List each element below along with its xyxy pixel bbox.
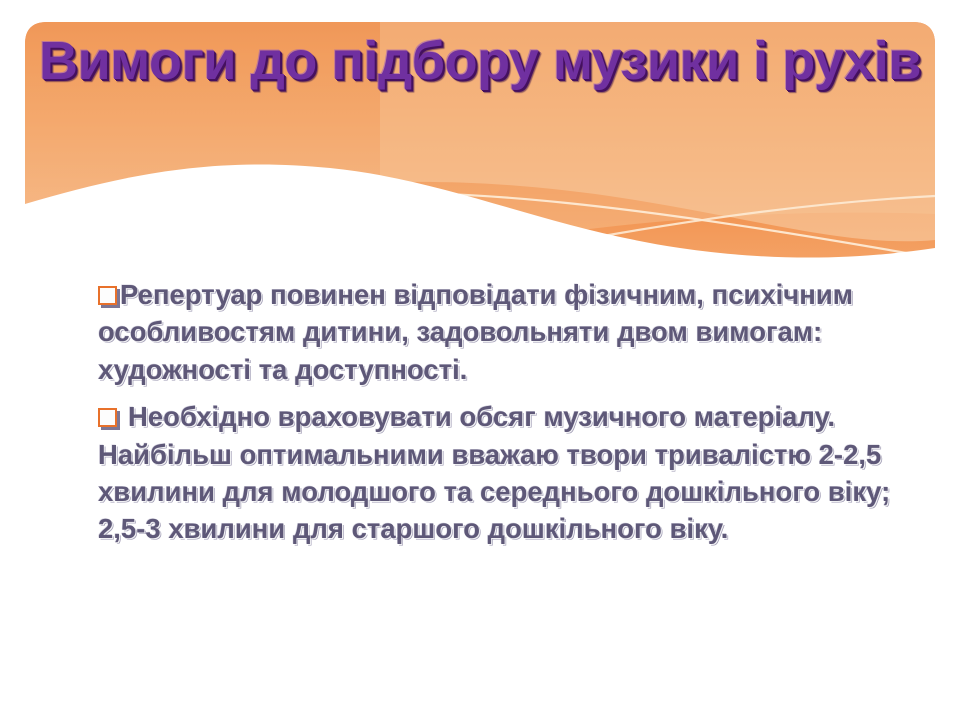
bullet-item: Репертуар повинен відповідати фізичним, … [98, 276, 898, 388]
bullet-item-text: Репертуар повинен відповідати фізичним, … [98, 279, 853, 385]
presentation-slide: Вимоги до підбору музики і рухів Реперту… [0, 0, 960, 720]
hollow-square-bullet-icon [98, 408, 117, 427]
bullet-item-text: Необхідно враховувати обсяг музичного ма… [98, 401, 890, 544]
slide-title: Вимоги до підбору музики і рухів [28, 26, 932, 97]
bullet-item: Необхідно враховувати обсяг музичного ма… [98, 398, 898, 548]
slide-title-text: Вимоги до підбору музики і рухів [28, 26, 932, 97]
slide-body: Репертуар повинен відповідати фізичним, … [98, 276, 898, 554]
hollow-square-bullet-icon [98, 286, 117, 305]
